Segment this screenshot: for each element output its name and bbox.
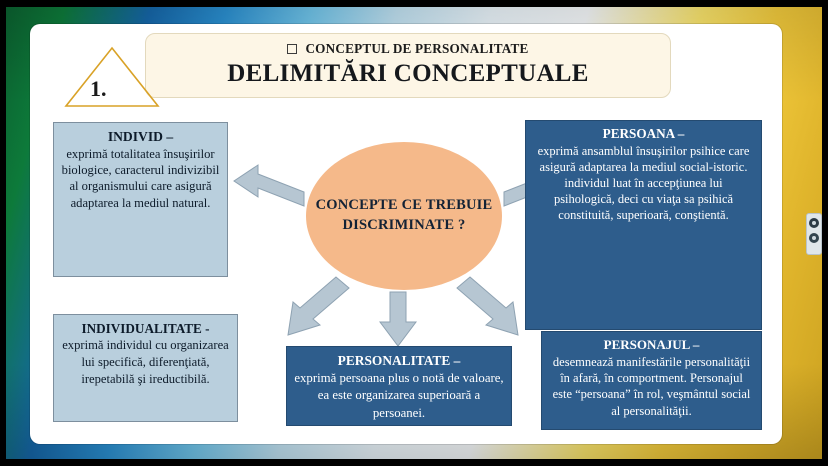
slide-subtitle: CONCEPTUL DE PERSONALITATE	[146, 41, 670, 57]
concept-box-individ-heading: INDIVID –	[61, 128, 220, 146]
concept-box-personajul-body: desemnează manifestările personalităţii …	[549, 354, 754, 419]
video-player-screen: CONCEPTUL DE PERSONALITATE DELIMITĂRI CO…	[0, 0, 828, 466]
concept-box-persoana-heading: PERSOANA –	[533, 126, 754, 143]
concept-box-individ-body: exprimă totalitatea însuşirilor biologic…	[61, 146, 220, 211]
concept-box-personalitate-body: exprimă persoana plus o notă de valoare,…	[294, 370, 504, 422]
slide-number: 1.	[90, 76, 107, 102]
slide-number-triangle: 1.	[64, 46, 160, 108]
settings-icon[interactable]	[809, 218, 819, 228]
letterbox-right	[822, 0, 828, 466]
concept-box-persoana-body: exprimă ansamblul însuşirilor psihice ca…	[533, 143, 754, 223]
fullscreen-icon[interactable]	[809, 233, 819, 243]
concept-box-personalitate-heading: PERSONALITATE –	[294, 352, 504, 370]
center-concept-text: CONCEPTE CE TREBUIE DISCRIMINATE ?	[306, 196, 502, 235]
letterbox-top	[0, 0, 828, 7]
letterbox-bottom	[0, 459, 828, 466]
center-concept-ellipse: CONCEPTE CE TREBUIE DISCRIMINATE ?	[306, 142, 502, 290]
concept-box-individ: INDIVID – exprimă totalitatea însuşirilo…	[53, 122, 228, 277]
letterbox-left	[0, 0, 6, 466]
slide-title: DELIMITĂRI CONCEPTUALE	[146, 60, 670, 88]
concept-box-personajul: PERSONAJUL – desemnează manifestările pe…	[541, 331, 762, 430]
concept-box-individualitate-body: exprimă individul cu organizarea lui spe…	[61, 337, 230, 387]
presentation-slide: CONCEPTUL DE PERSONALITATE DELIMITĂRI CO…	[30, 24, 782, 444]
side-control-strip[interactable]	[806, 213, 822, 255]
concept-box-personajul-heading: PERSONAJUL –	[549, 337, 754, 354]
slide-title-box: CONCEPTUL DE PERSONALITATE DELIMITĂRI CO…	[145, 33, 671, 98]
slide-subtitle-text: CONCEPTUL DE PERSONALITATE	[305, 41, 528, 56]
concept-box-individualitate: INDIVIDUALITATE - exprimă individul cu o…	[53, 314, 238, 422]
concept-box-individualitate-heading: INDIVIDUALITATE -	[61, 320, 230, 337]
concept-box-personalitate: PERSONALITATE – exprimă persoana plus o …	[286, 346, 512, 426]
bullet-square-icon	[287, 44, 297, 54]
concept-box-persoana: PERSOANA – exprimă ansamblul însuşirilor…	[525, 120, 762, 330]
